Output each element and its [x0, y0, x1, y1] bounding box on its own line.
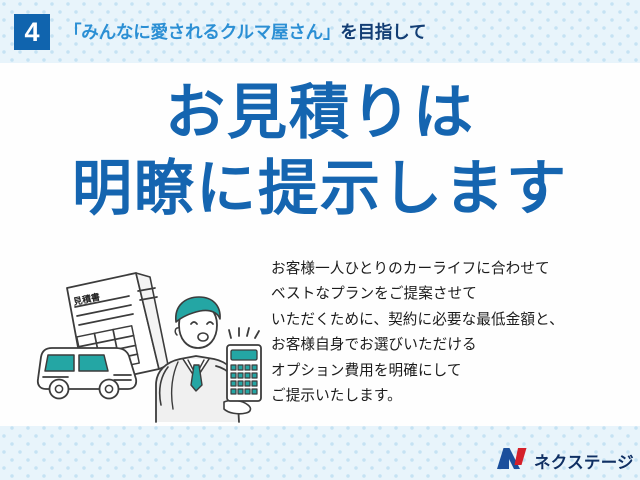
page-title: お見積りは 明瞭に提示します: [0, 81, 640, 220]
van-icon: [38, 348, 136, 399]
nextage-n-mark-icon: [497, 448, 527, 475]
header-title-tail: を目指して: [340, 22, 426, 42]
calculator-icon: [227, 345, 261, 401]
brand-logo: ネクステージ: [497, 447, 634, 475]
body-line: いただくために、契約に必要な最低金額と、: [271, 308, 640, 333]
header-title-quoted: 「みんなに愛されるクルマ屋さん」: [64, 22, 340, 42]
sparkle-icon: [229, 328, 259, 338]
section-number-badge: 4: [14, 14, 50, 50]
headline-line-2: 明瞭に提示します: [0, 157, 640, 221]
content-panel: お見積りは 明瞭に提示します お客様一人ひとりのカーライフに合わせて ベストなプ…: [0, 63, 640, 426]
body-line: ベストなプランをご提案させて: [271, 282, 640, 307]
slide-canvas: 4 「みんなに愛されるクルマ屋さん」を目指して お見積りは 明瞭に提示します お…: [0, 0, 640, 480]
sales-illustration: 見積書: [28, 259, 278, 424]
header-title: 「みんなに愛されるクルマ屋さん」を目指して: [64, 19, 426, 44]
body-line: お客様自身でお選びいただける: [271, 333, 640, 358]
header-bar: 4 「みんなに愛されるクルマ屋さん」を目指して: [0, 0, 640, 63]
body-line: オプション費用を明確にして: [271, 359, 640, 384]
body-line: お客様一人ひとりのカーライフに合わせて: [271, 257, 640, 282]
body-line: ご提示いたします。: [271, 384, 640, 409]
body-paragraph: お客様一人ひとりのカーライフに合わせて ベストなプランをご提案させて いただくた…: [271, 257, 640, 409]
brand-name: ネクステージ: [534, 449, 634, 473]
headline-line-1: お見積りは: [0, 81, 640, 145]
